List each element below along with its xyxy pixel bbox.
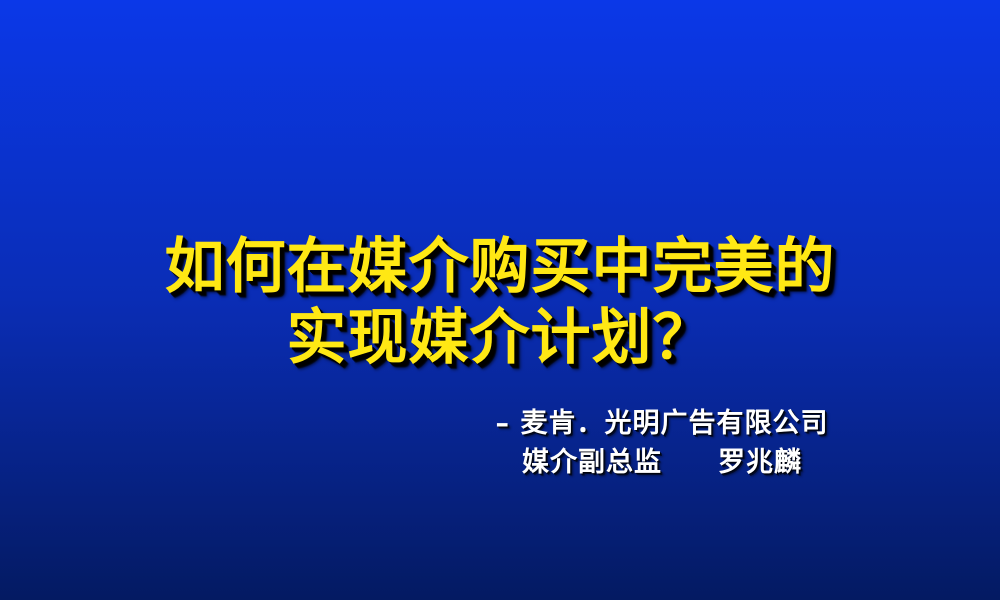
slide-subtitle-line-2: 媒介副总监 罗兆麟 xyxy=(440,443,884,482)
slide-subtitle: – 麦肯．光明广告有限公司 媒介副总监 罗兆麟 xyxy=(0,404,884,482)
presentation-slide: 如何在媒介购买中完美的 实现媒介计划？ – 麦肯．光明广告有限公司 媒介副总监 … xyxy=(0,0,1000,600)
slide-title-line-2: 实现媒介计划？ xyxy=(0,303,1000,374)
slide-subtitle-line-1: – 麦肯．光明广告有限公司 xyxy=(440,404,884,443)
slide-title: 如何在媒介购买中完美的 实现媒介计划？ xyxy=(0,232,1000,374)
slide-title-line-1: 如何在媒介购买中完美的 xyxy=(0,232,1000,303)
